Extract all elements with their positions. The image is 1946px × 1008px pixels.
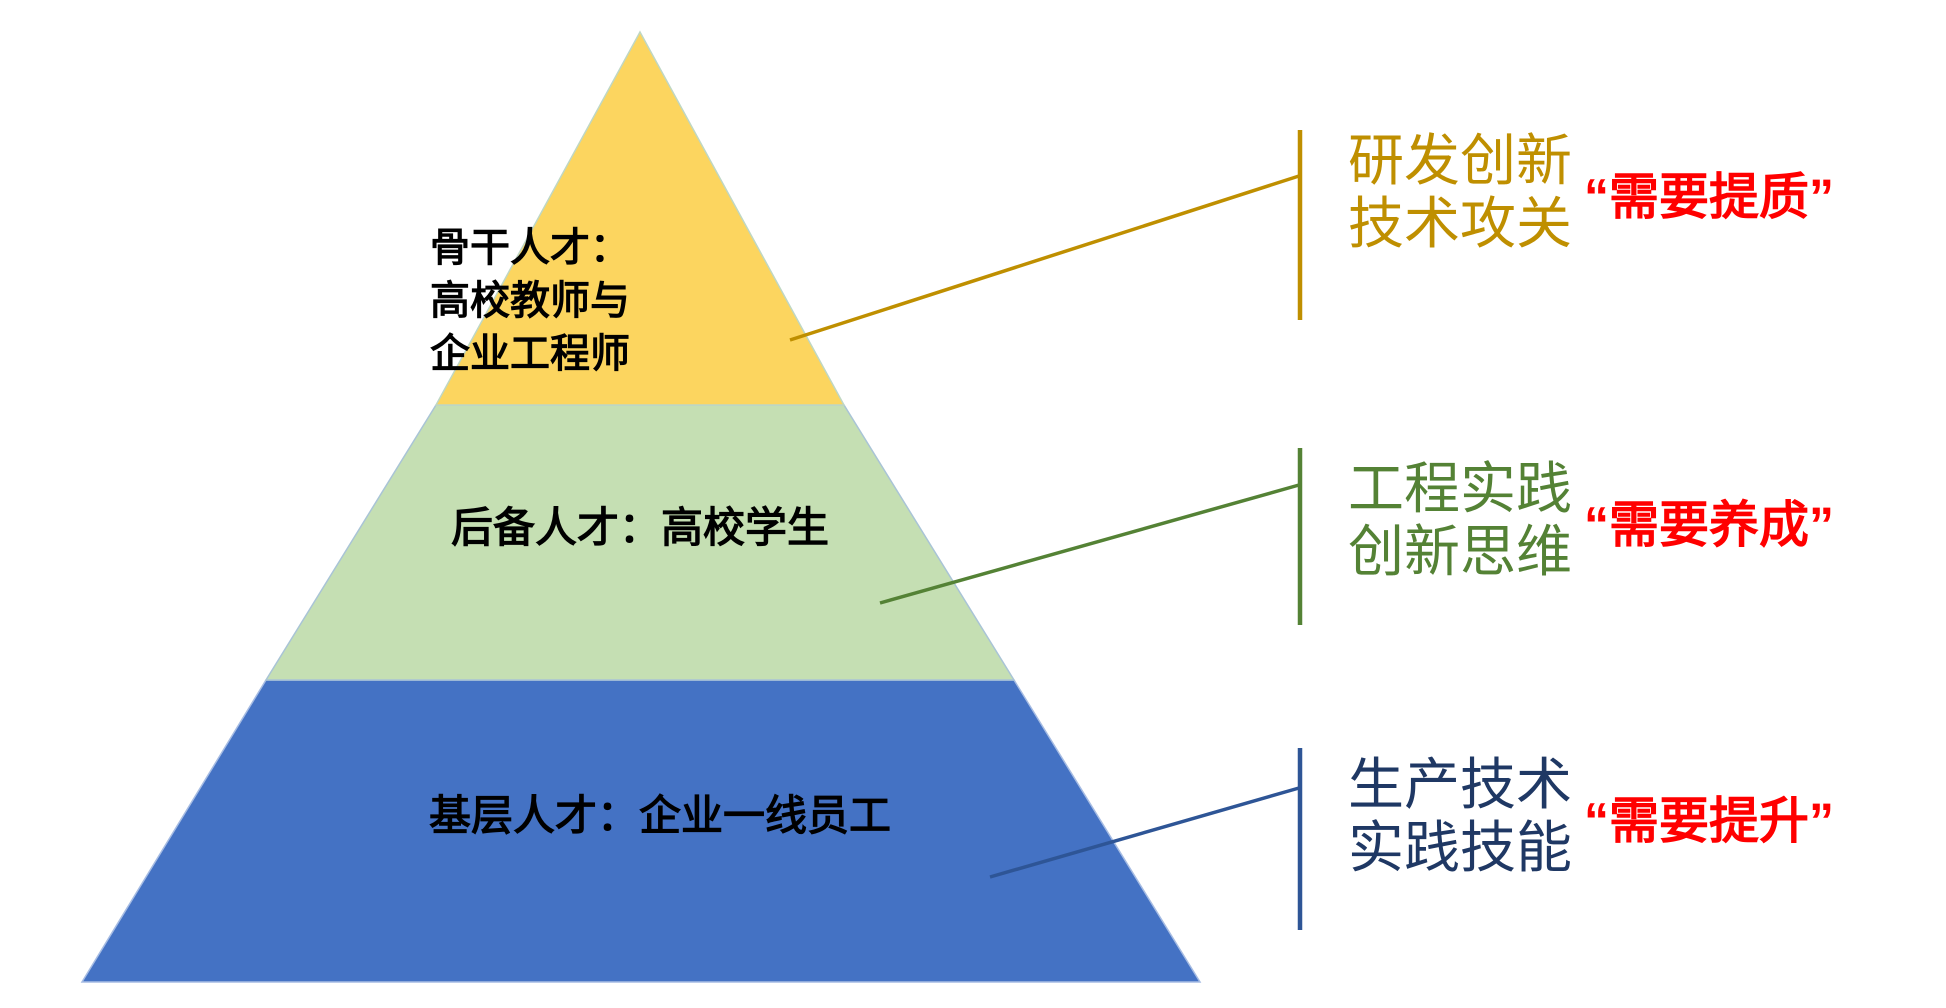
annotation-description-bottom: 生产技术 实践技能 (1348, 754, 1572, 879)
annotation-emphasis-bottom: “需要提升” (1584, 781, 1834, 853)
pyramid-tier-top[interactable] (436, 32, 844, 405)
pyramid-tier-bottom[interactable] (82, 680, 1200, 982)
annotation-group-bottom: 生产技术 实践技能 “需要提升” (1348, 754, 1834, 879)
annotation-description-top: 研发创新 技术攻关 (1348, 130, 1572, 255)
leader-line-middle (880, 485, 1299, 603)
diagram-canvas: 骨干人才： 高校教师与 企业工程师 后备人才：高校学生 基层人才：企业一线员工 … (0, 0, 1946, 1008)
pyramid-tier-middle[interactable] (266, 405, 1014, 680)
annotation-emphasis-top: “需要提质” (1584, 157, 1834, 229)
leader-line-top (790, 176, 1299, 340)
annotation-description-middle: 工程实践 创新思维 (1348, 458, 1572, 583)
annotation-group-middle: 工程实践 创新思维 “需要养成” (1348, 458, 1834, 583)
annotation-emphasis-middle: “需要养成” (1584, 485, 1834, 557)
annotation-group-top: 研发创新 技术攻关 “需要提质” (1348, 130, 1834, 255)
